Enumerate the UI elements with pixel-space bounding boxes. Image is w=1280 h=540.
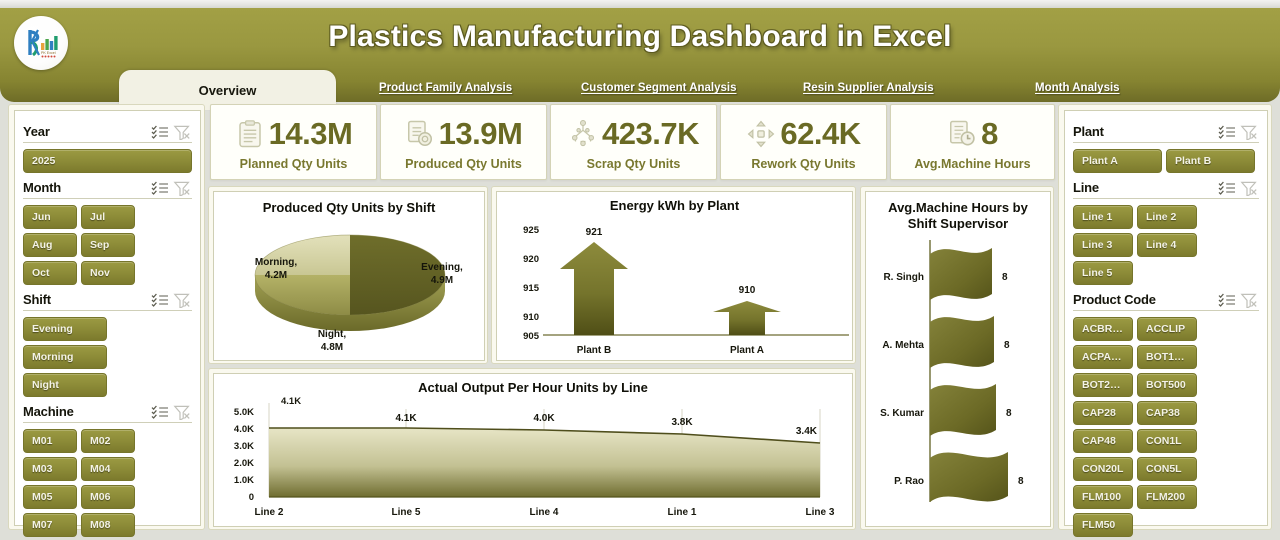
clear-filter-icon[interactable] (172, 404, 192, 420)
slicer-year: Year2025 (23, 121, 192, 173)
right-slicer-frame: PlantPlant APlant BLineLine 1Line 2Line … (1058, 104, 1272, 530)
pie-label-morning-value: 4.2M (265, 270, 287, 281)
page-title: Plastics Manufacturing Dashboard in Exce… (0, 20, 1280, 54)
pie-chart-title: Produced Qty Units by Shift (214, 200, 484, 215)
kpi-label: Rework Qty Units (751, 157, 855, 171)
slicer-item-jul[interactable]: Jul (81, 205, 135, 229)
y-tick-915: 915 (523, 283, 540, 294)
slicer-item-con5l[interactable]: CON5L (1137, 457, 1197, 481)
multi-select-icon[interactable] (150, 124, 170, 140)
kpi-value-row: 14.3M (235, 113, 353, 155)
kpi-card-produced[interactable]: 13.9M Produced Qty Units (380, 104, 547, 180)
kpi-value-row: 62.4K (746, 113, 860, 155)
left-slicer-panel: Year2025MonthJunJulAugSepOctNovShiftEven… (14, 110, 201, 526)
right-slicer-list: PlantPlant APlant BLineLine 1Line 2Line … (1065, 111, 1267, 540)
x-label-line-3: Line 3 (806, 507, 835, 518)
pie-chart-panel[interactable]: Produced Qty Units by Shift (213, 191, 485, 361)
slicer-items: EveningMorningNight (23, 317, 192, 397)
clear-filter-icon[interactable] (172, 180, 192, 196)
multi-select-icon[interactable] (1217, 124, 1237, 140)
slicer-title: Shift (23, 292, 148, 307)
tab-month-analysis[interactable]: Month Analysis (1035, 82, 1120, 102)
slicer-header: Line (1073, 177, 1259, 199)
y-tick-905: 905 (523, 331, 540, 342)
slicer-items: M01M02M03M04M05M06M07M08M09M10 (23, 429, 192, 540)
slicer-item-oct[interactable]: Oct (23, 261, 77, 285)
y-label-r-singh: R. Singh (883, 272, 924, 283)
bar-plant-a (713, 301, 781, 335)
slicer-header: Plant (1073, 121, 1259, 143)
multi-select-icon[interactable] (150, 292, 170, 308)
y-label-s-kumar: S. Kumar (880, 408, 924, 419)
slicer-header: Product Code (1073, 289, 1259, 311)
multi-select-icon[interactable] (1217, 292, 1237, 308)
area-label-line-1: 3.8K (671, 417, 693, 428)
kpi-value: 8 (981, 119, 998, 149)
flag-bar-r-singh: R. Singh 8 (883, 248, 1008, 300)
kpi-value: 62.4K (780, 119, 860, 149)
kpi-value: 14.3M (269, 119, 353, 149)
tab-resin-supplier-analysis[interactable]: Resin Supplier Analysis (803, 82, 934, 102)
area-chart-svg: 5.0K 4.0K 3.0K 2.0K 1.0K 0 4.1K (214, 395, 854, 527)
slicer-items: Plant APlant B (1073, 149, 1259, 173)
slicer-header: Year (23, 121, 192, 143)
slicer-title: Year (23, 124, 148, 139)
supervisor-chart-frame: Avg.Machine Hours by Shift Supervisor R.… (860, 186, 1054, 530)
kpi-card-scrap[interactable]: 423.7K Scrap Qty Units (550, 104, 717, 180)
slicer-item-line-3[interactable]: Line 3 (1073, 233, 1133, 257)
kpi-label: Scrap Qty Units (587, 157, 681, 171)
slicer-item-m02[interactable]: M02 (81, 429, 135, 453)
y-label-p-rao: P. Rao (894, 476, 924, 487)
y-tick-3000: 3.0K (234, 441, 254, 452)
slicer-items: Line 1Line 2Line 3Line 4Line 5 (1073, 205, 1259, 285)
slicer-item-cap48[interactable]: CAP48 (1073, 429, 1133, 453)
y-tick-2000: 2.0K (234, 458, 254, 469)
energy-chart-svg: 925 920 915 910 905 921 Plant B 910 Plan… (497, 213, 854, 361)
scrap-network-icon (568, 119, 598, 149)
supervisor-chart-svg: R. Singh 8 A. Mehta 8 S. Kumar 8 P. Rao … (866, 232, 1052, 528)
kpi-value-row: 423.7K (568, 113, 699, 155)
slicer-item-plant-a[interactable]: Plant A (1073, 149, 1162, 173)
multi-select-icon[interactable] (1217, 180, 1237, 196)
slicer-title: Line (1073, 180, 1215, 195)
slicer-item-line-4[interactable]: Line 4 (1137, 233, 1197, 257)
slicer-line: LineLine 1Line 2Line 3Line 4Line 5 (1073, 177, 1259, 285)
slicer-item-m01[interactable]: M01 (23, 429, 77, 453)
pie-label-night-value: 4.8M (321, 342, 343, 353)
tab-customer-segment-analysis[interactable]: Customer Segment Analysis (581, 82, 737, 102)
flag-bar-a-mehta: A. Mehta 8 (882, 316, 1010, 368)
pie-label-night-name: Night, (318, 329, 347, 340)
kpi-label: Planned Qty Units (240, 157, 348, 171)
flag-bar-p-rao: P. Rao 8 (894, 452, 1024, 502)
area-chart-panel[interactable]: Actual Output Per Hour Units by Line 5.0… (213, 373, 853, 527)
kpi-card-planned[interactable]: 14.3M Planned Qty Units (210, 104, 377, 180)
y-tick-925: 925 (523, 225, 540, 236)
slicer-item-aug[interactable]: Aug (23, 233, 77, 257)
slicer-item-bot500[interactable]: BOT500 (1137, 373, 1197, 397)
kpi-value-row: 8 (947, 113, 998, 155)
slicer-title: Machine (23, 404, 148, 419)
slicer-item-bot10-[interactable]: BOT10... (1137, 345, 1197, 369)
energy-chart-title: Energy kWh by Plant (497, 198, 852, 213)
dashboard-root: PK Excel Plastics Manufacturing Dashboar… (0, 0, 1280, 540)
y-tick-1000: 1.0K (234, 475, 254, 486)
slicer-shift: ShiftEveningMorningNight (23, 289, 192, 397)
supervisor-chart-title-l2: Shift Supervisor (908, 216, 1008, 231)
area-chart-frame: Actual Output Per Hour Units by Line 5.0… (208, 368, 856, 530)
left-slicer-frame: Year2025MonthJunJulAugSepOctNovShiftEven… (8, 104, 205, 530)
kpi-label: Avg.Machine Hours (914, 157, 1030, 171)
clipboard-icon (235, 119, 265, 149)
x-label-line-2: Line 2 (255, 507, 284, 518)
slicer-plant: PlantPlant APlant B (1073, 121, 1259, 173)
area-label-line-3: 3.4K (796, 426, 818, 437)
document-clock-icon (947, 119, 977, 149)
slicer-item-line-2[interactable]: Line 2 (1137, 205, 1197, 229)
slicer-item-con1l[interactable]: CON1L (1137, 429, 1197, 453)
pie-label-evening-name: Evening, (421, 262, 463, 273)
slicer-item-m03[interactable]: M03 (23, 457, 77, 481)
dashboard-header: PK Excel Plastics Manufacturing Dashboar… (0, 8, 1280, 102)
flag-bar-s-kumar: S. Kumar 8 (880, 384, 1012, 436)
slicer-item-morning[interactable]: Morning (23, 345, 107, 369)
slicer-product-code: Product CodeACBRKTACCLIPACPAN...BOT10...… (1073, 289, 1259, 537)
slicer-month: MonthJunJulAugSepOctNov (23, 177, 192, 285)
area-chart-title: Actual Output Per Hour Units by Line (214, 380, 852, 395)
flag-value-s-kumar: 8 (1006, 408, 1012, 419)
supervisor-chart-title-l1: Avg.Machine Hours by (888, 200, 1028, 215)
x-label-plant-a: Plant A (730, 345, 764, 356)
slicer-header: Month (23, 177, 192, 199)
pie-label-morning-name: Morning, (255, 257, 297, 268)
slicer-title: Product Code (1073, 292, 1215, 307)
clear-filter-icon[interactable] (1239, 180, 1259, 196)
rework-arrows-icon (746, 119, 776, 149)
multi-select-icon[interactable] (150, 404, 170, 420)
kpi-label: Produced Qty Units (405, 157, 522, 171)
slicer-item-jun[interactable]: Jun (23, 205, 77, 229)
energy-chart-panel[interactable]: Energy kWh by Plant 925 920 915 910 905 … (496, 191, 853, 361)
slicer-item-m04[interactable]: M04 (81, 457, 135, 481)
flag-value-a-mehta: 8 (1004, 340, 1010, 351)
pie-chart-frame: Produced Qty Units by Shift (208, 186, 488, 364)
supervisor-chart-panel[interactable]: Avg.Machine Hours by Shift Supervisor R.… (865, 191, 1051, 527)
slicer-item-flm50[interactable]: FLM50 (1073, 513, 1133, 537)
slicer-machine: MachineM01M02M03M04M05M06M07M08M09M10 (23, 401, 192, 540)
y-tick-0: 0 (249, 492, 254, 503)
left-slicer-list: Year2025MonthJunJulAugSepOctNovShiftEven… (15, 111, 200, 540)
clear-filter-icon[interactable] (1239, 124, 1259, 140)
slicer-item-m06[interactable]: M06 (81, 485, 135, 509)
slicer-item-acbrkt[interactable]: ACBRKT (1073, 317, 1133, 341)
slicer-item-m05[interactable]: M05 (23, 485, 77, 509)
right-slicer-panel: PlantPlant APlant BLineLine 1Line 2Line … (1064, 110, 1268, 526)
x-label-line-1: Line 1 (668, 507, 697, 518)
slicer-item-acclip[interactable]: ACCLIP (1137, 317, 1197, 341)
clear-filter-icon[interactable] (172, 124, 192, 140)
multi-select-icon[interactable] (150, 180, 170, 196)
slicer-item-m08[interactable]: M08 (81, 513, 135, 537)
axis-corner-label: 4.1K (281, 396, 301, 407)
slicer-item-acpan-[interactable]: ACPAN... (1073, 345, 1133, 369)
slicer-items: ACBRKTACCLIPACPAN...BOT10...BOT20...BOT5… (1073, 317, 1259, 537)
bar-label-plant-a: 910 (739, 285, 756, 296)
pie-chart-svg: Morning, 4.2M Evening, 4.9M Night, 4.8M (214, 215, 486, 355)
slicer-item-con20l[interactable]: CON20L (1073, 457, 1133, 481)
bar-label-plant-b: 921 (586, 227, 603, 238)
slicer-item-sep[interactable]: Sep (81, 233, 135, 257)
slicer-item-cap28[interactable]: CAP28 (1073, 401, 1133, 425)
pie-label-evening-value: 4.9M (431, 275, 453, 286)
y-label-a-mehta: A. Mehta (882, 340, 924, 351)
clear-filter-icon[interactable] (172, 292, 192, 308)
slicer-item-flm200[interactable]: FLM200 (1137, 485, 1197, 509)
kpi-card-rework[interactable]: 62.4K Rework Qty Units (720, 104, 887, 180)
clear-filter-icon[interactable] (1239, 292, 1259, 308)
x-label-plant-b: Plant B (577, 345, 611, 356)
slicer-item-line-1[interactable]: Line 1 (1073, 205, 1133, 229)
slicer-title: Month (23, 180, 148, 195)
kpi-value: 423.7K (602, 119, 699, 149)
flag-value-r-singh: 8 (1002, 272, 1008, 283)
kpi-value: 13.9M (439, 119, 523, 149)
y-tick-910: 910 (523, 312, 539, 323)
slicer-item-evening[interactable]: Evening (23, 317, 107, 341)
slicer-header: Machine (23, 401, 192, 423)
tab-product-family-analysis[interactable]: Product Family Analysis (379, 82, 512, 102)
x-label-line-4: Line 4 (530, 507, 559, 518)
slicer-item-flm100[interactable]: FLM100 (1073, 485, 1133, 509)
slicer-item-cap38[interactable]: CAP38 (1137, 401, 1197, 425)
window-top-strip (0, 0, 1280, 8)
slicer-title: Plant (1073, 124, 1215, 139)
slicer-items: 2025 (23, 149, 192, 173)
clipboard-coins-icon (405, 119, 435, 149)
kpi-value-row: 13.9M (405, 113, 523, 155)
y-tick-920: 920 (523, 254, 539, 265)
slicer-item-nov[interactable]: Nov (81, 261, 135, 285)
slicer-item-night[interactable]: Night (23, 373, 107, 397)
slicer-item-bot20-[interactable]: BOT20... (1073, 373, 1133, 397)
area-label-line-4: 4.0K (533, 413, 555, 424)
y-tick-5000: 5.0K (234, 407, 254, 418)
x-label-line-5: Line 5 (392, 507, 421, 518)
bar-plant-b (560, 242, 628, 335)
supervisor-chart-title: Avg.Machine Hours by Shift Supervisor (866, 200, 1050, 232)
kpi-card-machine-hours[interactable]: 8 Avg.Machine Hours (890, 104, 1055, 180)
y-tick-4000: 4.0K (234, 424, 254, 435)
slicer-item-plant-b[interactable]: Plant B (1166, 149, 1255, 173)
slicer-items: JunJulAugSepOctNov (23, 205, 192, 285)
slicer-item-2025[interactable]: 2025 (23, 149, 192, 173)
energy-chart-frame: Energy kWh by Plant 925 920 915 910 905 … (491, 186, 856, 364)
flag-value-p-rao: 8 (1018, 476, 1024, 487)
area-label-line-5: 4.1K (395, 413, 417, 424)
slicer-header: Shift (23, 289, 192, 311)
slicer-item-m07[interactable]: M07 (23, 513, 77, 537)
slicer-item-line-5[interactable]: Line 5 (1073, 261, 1133, 285)
